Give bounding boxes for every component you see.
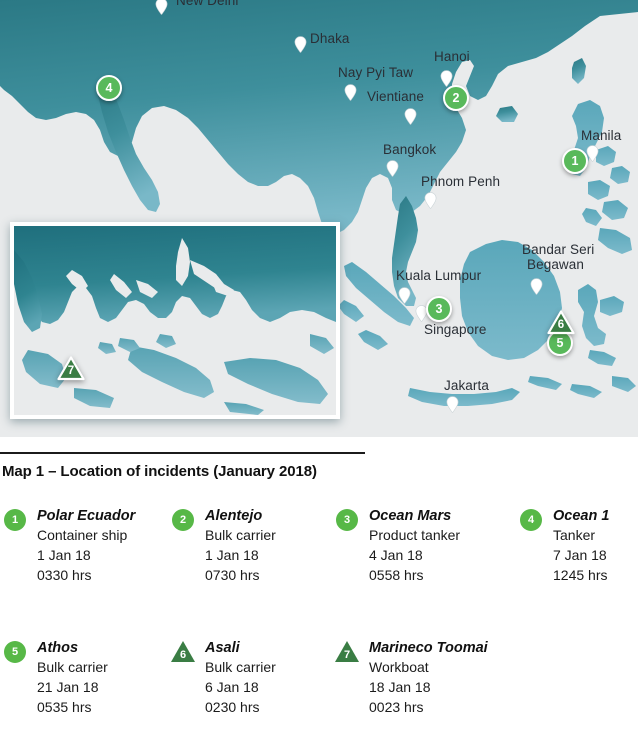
legend-entry-text: Ocean 1Tanker7 Jan 181245 hrs (553, 507, 609, 586)
incident-date: 1 Jan 18 (37, 546, 135, 566)
legend-entry-text: AthosBulk carrier21 Jan 180535 hrs (37, 639, 108, 718)
vessel-name: Marineco Toomai (369, 639, 488, 658)
city-pin-icon (424, 192, 437, 209)
inset-map-graphic (14, 226, 336, 415)
vessel-name: Alentejo (205, 507, 276, 526)
legend-badge-6: 6 (172, 641, 194, 663)
marker-number: 2 (443, 85, 469, 111)
marker-number: 3 (426, 296, 452, 322)
marker-number: 1 (562, 148, 588, 174)
vessel-type: Tanker (553, 526, 609, 546)
legend-entry-text: Ocean MarsProduct tanker4 Jan 180558 hrs (369, 507, 460, 586)
city-label: New Delhi (176, 0, 238, 8)
legend-badge-4: 4 (520, 509, 542, 531)
incident-map: New DelhiDhakaHanoiNay Pyi TawVientianeB… (0, 0, 638, 437)
city-label: Manila (581, 129, 621, 143)
vessel-name: Asali (205, 639, 276, 658)
city-pin-icon (404, 108, 417, 125)
badge-number: 5 (4, 641, 26, 663)
badge-number: 3 (336, 509, 358, 531)
incident-time: 0023 hrs (369, 698, 488, 718)
marker-number: 6 (547, 310, 575, 335)
incident-time: 0730 hrs (205, 566, 276, 586)
city-pin-icon (530, 278, 543, 295)
legend-entry-text: AlentejoBulk carrier1 Jan 180730 hrs (205, 507, 276, 586)
legend-divider (0, 452, 365, 454)
legend-entry-text: Marineco ToomaiWorkboat18 Jan 180023 hrs (369, 639, 488, 718)
vessel-type: Bulk carrier (205, 658, 276, 678)
incident-time: 0330 hrs (37, 566, 135, 586)
inset-map: 7 (10, 222, 340, 419)
incident-date: 6 Jan 18 (205, 678, 276, 698)
marker-number: 7 (57, 356, 85, 381)
city-label: Nay Pyi Taw (338, 66, 413, 80)
city-label: Bandar Seri (522, 243, 594, 257)
city-label: Begawan (527, 258, 584, 272)
city-label: Singapore (424, 323, 486, 337)
legend-badge-5: 5 (4, 641, 26, 663)
incident-time: 1245 hrs (553, 566, 609, 586)
incident-date: 4 Jan 18 (369, 546, 460, 566)
badge-number: 1 (4, 509, 26, 531)
city-label: Bangkok (383, 143, 436, 157)
legend-entry-text: Polar EcuadorContainer ship1 Jan 180330 … (37, 507, 135, 586)
badge-number: 7 (336, 641, 358, 663)
city-pin-icon (294, 36, 307, 53)
incident-date: 18 Jan 18 (369, 678, 488, 698)
vessel-type: Product tanker (369, 526, 460, 546)
incident-marker-1[interactable]: 1 (562, 148, 588, 174)
incident-marker-6[interactable]: 6 (547, 310, 575, 335)
vessel-name: Polar Ecuador (37, 507, 135, 526)
vessel-type: Container ship (37, 526, 135, 546)
vessel-name: Ocean Mars (369, 507, 460, 526)
incident-marker-4[interactable]: 4 (96, 75, 122, 101)
city-label: Phnom Penh (421, 175, 500, 189)
vessel-type: Bulk carrier (205, 526, 276, 546)
legend-badge-1: 1 (4, 509, 26, 531)
incident-marker-7[interactable]: 7 (57, 356, 85, 381)
city-label: Jakarta (444, 379, 489, 393)
map-title: Map 1 – Location of incidents (January 2… (2, 463, 317, 480)
vessel-name: Ocean 1 (553, 507, 609, 526)
incident-time: 0558 hrs (369, 566, 460, 586)
city-label: Vientiane (367, 90, 424, 104)
legend-badge-2: 2 (172, 509, 194, 531)
legend-entry-text: AsaliBulk carrier6 Jan 180230 hrs (205, 639, 276, 718)
badge-number: 4 (520, 509, 542, 531)
vessel-type: Bulk carrier (37, 658, 108, 678)
city-pin-icon (398, 287, 411, 304)
badge-number: 2 (172, 509, 194, 531)
legend-badge-7: 7 (336, 641, 358, 663)
legend-badge-3: 3 (336, 509, 358, 531)
city-label: Dhaka (310, 32, 350, 46)
city-pin-icon (344, 84, 357, 101)
vessel-name: Athos (37, 639, 108, 658)
incident-date: 1 Jan 18 (205, 546, 276, 566)
city-pin-icon (155, 0, 168, 15)
incident-time: 0230 hrs (205, 698, 276, 718)
incident-date: 21 Jan 18 (37, 678, 108, 698)
marker-number: 4 (96, 75, 122, 101)
vessel-type: Workboat (369, 658, 488, 678)
incident-date: 7 Jan 18 (553, 546, 609, 566)
incident-marker-3[interactable]: 3 (426, 296, 452, 322)
city-pin-icon (446, 396, 459, 413)
incident-marker-2[interactable]: 2 (443, 85, 469, 111)
city-label: Hanoi (434, 50, 470, 64)
city-pin-icon (386, 160, 399, 177)
incident-time: 0535 hrs (37, 698, 108, 718)
city-label: Kuala Lumpur (396, 269, 481, 283)
badge-number: 6 (172, 641, 194, 663)
map-legend: Map 1 – Location of incidents (January 2… (0, 437, 638, 743)
